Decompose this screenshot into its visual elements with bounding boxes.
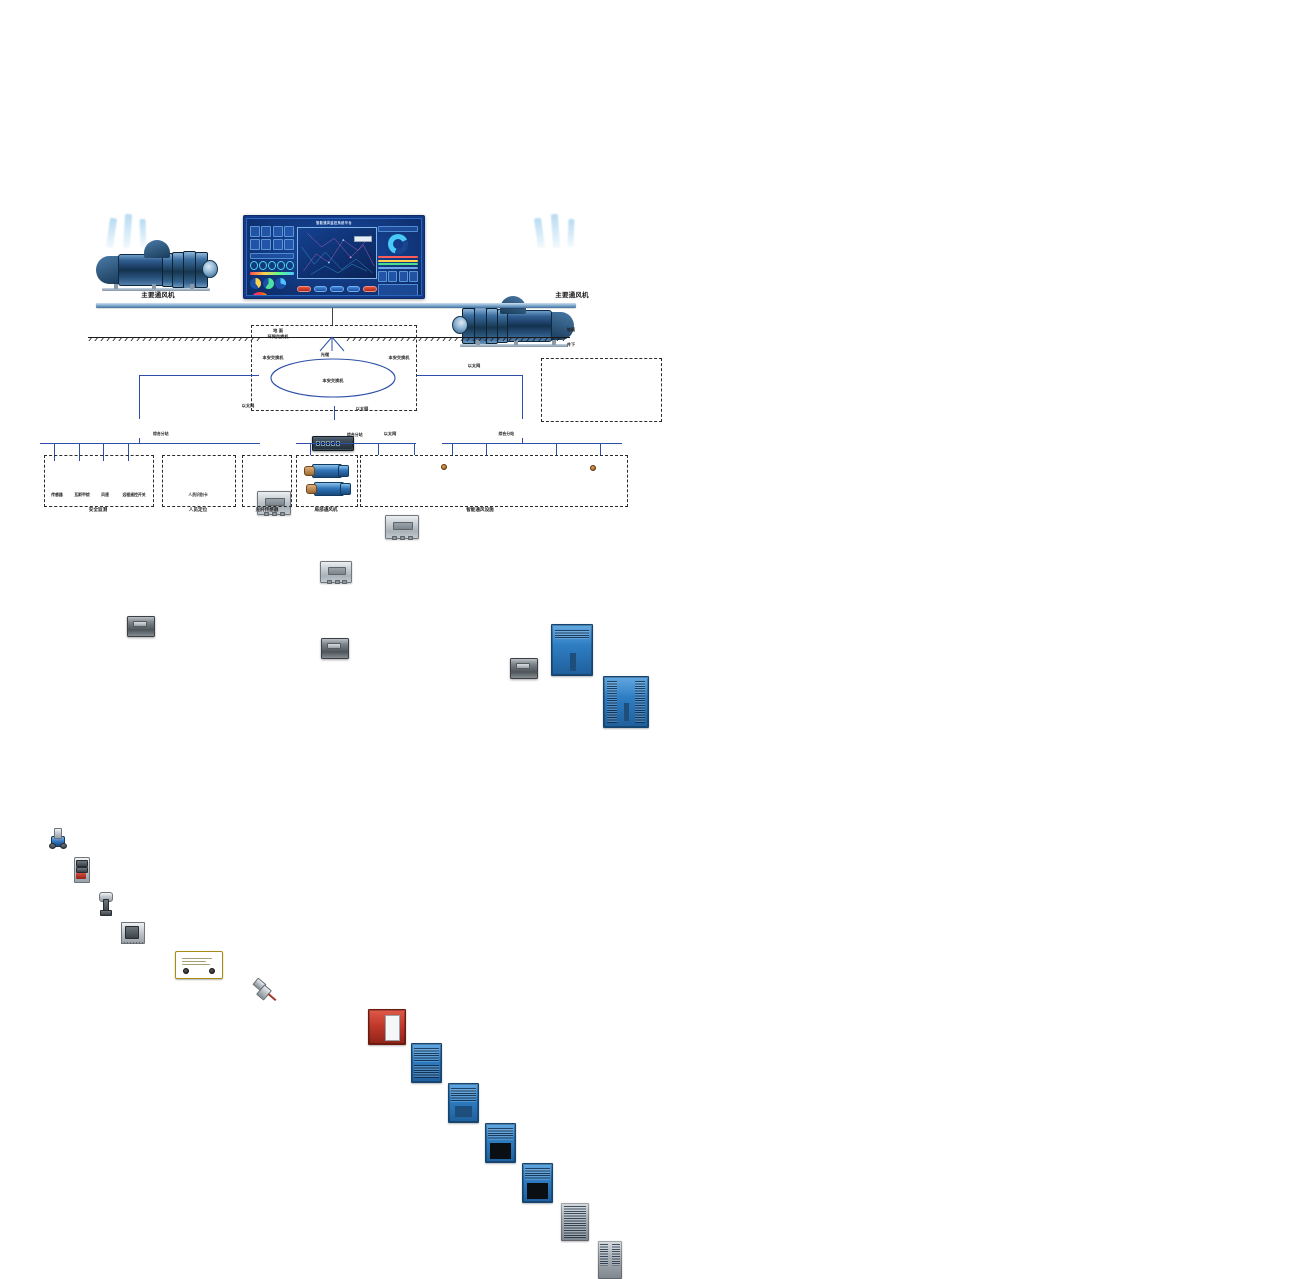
airflow-stream-right-3 <box>568 219 575 247</box>
bus-center-drop-3 <box>414 443 415 455</box>
smart-vent-door-2 <box>448 1083 479 1123</box>
underground-air-door-1 <box>551 624 593 676</box>
surface-platform-bar <box>96 303 576 308</box>
local-fan-motor <box>304 466 315 476</box>
sensor-mount <box>54 828 62 839</box>
is-switch-left-label: 本安交换机 <box>252 356 294 361</box>
substation-right[interactable] <box>510 658 538 679</box>
airflow-stream-right-1 <box>534 218 545 249</box>
substation-left-label: 综合分站 <box>153 432 185 436</box>
door-frame <box>604 677 648 727</box>
device-methane-detector <box>72 854 90 886</box>
cable-center-branch-v <box>334 406 335 420</box>
screen-gauge-chart <box>388 234 408 254</box>
screen-ring-row <box>250 261 294 270</box>
ground-hatch-left <box>88 337 264 341</box>
sensor-probe <box>49 843 56 849</box>
screen-ring-gauge <box>286 261 294 270</box>
safety-monitoring-zone <box>44 455 154 507</box>
door-frame <box>561 1203 589 1241</box>
door-frame <box>552 625 592 675</box>
screen-action-button[interactable] <box>363 286 377 293</box>
main-fan-right-label: 主要通风机 <box>510 292 634 299</box>
screen-kpi-cell <box>273 239 283 250</box>
smart-vent-regulator-2 <box>598 1241 622 1279</box>
personnel-id-card-label: 人员识别卡 <box>170 493 226 497</box>
bus-right-drop-2 <box>486 443 487 455</box>
door-frame <box>486 1124 515 1162</box>
screen-action-button[interactable] <box>314 286 328 293</box>
screen-footer-widget <box>378 284 418 296</box>
door-frame <box>412 1044 441 1082</box>
local-fan-outlet <box>338 465 349 477</box>
bus-left-drop-from-substation <box>139 438 140 444</box>
fiber-optic-sensor <box>250 976 282 1010</box>
smart-ventilation-zone <box>360 455 628 507</box>
screen-legend-line <box>378 263 418 265</box>
bus-left-horizontal <box>40 443 260 444</box>
screen-icon-grid <box>250 226 294 250</box>
screen-color-wheel <box>250 292 270 297</box>
cable-right-branch-v <box>522 375 523 419</box>
anemometer-base <box>100 910 112 916</box>
is-switch-lug <box>327 580 332 585</box>
screen-network-map <box>297 227 377 279</box>
fan-foot-left-3 <box>190 284 194 289</box>
substation-center-label: 综合分站 <box>347 433 379 437</box>
card-button <box>183 968 189 974</box>
screen-legend-line <box>378 256 418 258</box>
personnel-positioning-group-label: 人员定位 <box>168 508 228 513</box>
screen-kpi-cell <box>250 226 260 237</box>
screen-kpi-cell <box>399 271 408 282</box>
device-sensor-label: 传感器 <box>44 493 70 497</box>
screen-ring-gauge <box>268 261 276 270</box>
cable-right-branch-h <box>417 375 523 376</box>
is-switch-right-label: 本安交换机 <box>378 356 420 361</box>
screen-header-widget <box>378 226 418 232</box>
smart-vent-door-1-actuator <box>441 464 447 470</box>
is-switch-lug <box>408 536 413 541</box>
screen-ring-gauge <box>259 261 267 270</box>
door-frame <box>523 1164 552 1202</box>
screen-right-kpi-grid <box>378 271 418 282</box>
local-fan-motor <box>306 484 317 494</box>
substation-window <box>133 621 147 628</box>
is-switch-lug <box>335 580 340 585</box>
screen-left-panel <box>250 226 294 281</box>
bus-center-drop-1 <box>310 443 311 455</box>
screen-kpi-cell <box>261 239 271 250</box>
screen-kpi-cell <box>378 271 387 282</box>
is-switch-window <box>328 567 347 575</box>
screen-button-row[interactable] <box>297 286 377 293</box>
screen-ring-gauge <box>277 261 285 270</box>
main-fan-left <box>96 240 220 296</box>
is-switch-bottom-label: 本安交换机 <box>312 379 354 384</box>
device-methane-label: 瓦斯甲烷 <box>68 493 96 497</box>
screen-strip-widget <box>250 253 294 259</box>
smart-vent-door-4 <box>522 1163 553 1203</box>
bus-center-drop-from-substation <box>334 438 335 444</box>
screen-action-button[interactable] <box>347 286 361 293</box>
is-switch-lug <box>392 536 397 541</box>
smart-vent-red-door <box>368 1009 406 1045</box>
underground-air-door-zone <box>541 358 662 422</box>
fan-hub-right <box>452 316 468 334</box>
sensor-probe <box>60 843 67 849</box>
screen-ring-gauge <box>250 261 258 270</box>
methane-indicator <box>76 873 86 879</box>
cable-screen-to-ground-switch <box>332 308 333 326</box>
ethernet-label-bottom-center: 以太网 <box>378 432 402 437</box>
screen-donut-row <box>250 278 294 289</box>
bus-center-horizontal <box>296 443 416 444</box>
local-fan-lower <box>306 480 350 496</box>
ethernet-label-left: 以太网 <box>236 404 260 409</box>
fan-foot-left-1 <box>114 284 118 289</box>
cable-left-branch-v <box>139 375 140 419</box>
ethernet-label-center: 以太网 <box>350 407 374 412</box>
screen-donut-chart <box>275 278 286 289</box>
screen-legend-line <box>378 260 418 262</box>
screen-action-button[interactable] <box>330 286 344 293</box>
is-switch-bottom[interactable] <box>320 561 352 583</box>
is-switch-lug <box>400 536 405 541</box>
fan-hub-left <box>202 260 218 278</box>
bus-right-drop-1 <box>452 443 453 455</box>
main-fan-left-label: 主要通风机 <box>96 292 220 299</box>
screen-kpi-cell <box>409 271 418 282</box>
card-button <box>209 968 215 974</box>
substation-window <box>516 663 530 670</box>
underground-level-label: 井下 <box>556 343 586 348</box>
bus-right-drop-from-substation <box>522 438 523 444</box>
screen-action-button[interactable] <box>297 286 311 293</box>
door-frame <box>369 1010 405 1044</box>
ethernet-label-right-top: 以太网 <box>462 364 486 369</box>
screen-kpi-cell <box>388 271 397 282</box>
ground-ring-switch-label-line2: 环网交换机 <box>258 335 298 340</box>
device-remote-control-switch <box>120 918 144 948</box>
local-fan-outlet <box>340 483 351 495</box>
ground-level-label: 地面 <box>556 328 586 333</box>
control-screen-display: 智能通风监控系统平台 <box>246 218 422 296</box>
screen-kpi-cell <box>284 226 294 237</box>
screen-kpi-cell <box>284 239 294 250</box>
cable-left-branch-h <box>139 375 259 376</box>
screen-spectrum-bar <box>250 272 294 275</box>
substation-center[interactable] <box>321 638 349 659</box>
fiber-sensor-zone <box>242 455 292 507</box>
screen-kpi-cell <box>273 226 283 237</box>
smart-ventilation-group-label: 智能通风设施 <box>420 508 540 513</box>
substation-left[interactable] <box>127 616 155 637</box>
substation-window <box>327 643 341 650</box>
probe-tip <box>268 993 277 1001</box>
card-text-line <box>182 964 210 965</box>
is-switch-lug <box>342 580 347 585</box>
fiber-sensor-group-label: 光纤传感器 <box>240 508 294 513</box>
screen-donut-chart <box>263 278 274 289</box>
card-text-line <box>182 961 206 962</box>
local-fan-group-label: 局部通风机 <box>296 508 356 513</box>
screen-legend-line <box>378 267 418 269</box>
is-switch-right[interactable] <box>385 515 419 539</box>
rcs-pins <box>121 942 143 944</box>
bus-right-horizontal <box>442 443 622 444</box>
smart-vent-regulator-1-actuator <box>590 465 596 471</box>
personnel-id-card <box>175 951 223 979</box>
smart-vent-door-3 <box>485 1123 516 1163</box>
screen-right-panel <box>378 226 418 281</box>
screen-donut-chart <box>250 278 261 289</box>
screen-kpi-cell <box>261 226 271 237</box>
bus-center-drop-2 <box>378 443 379 455</box>
airflow-stream-right-2 <box>551 214 560 248</box>
bus-right-drop-3 <box>556 443 557 455</box>
underground-air-door-2 <box>603 676 649 728</box>
fan-elbow-left <box>144 240 170 258</box>
card-text-line <box>182 958 212 959</box>
door-frame <box>598 1241 622 1279</box>
substation-right-label: 综合分站 <box>482 432 514 436</box>
personnel-positioning-zone <box>162 455 236 507</box>
smart-vent-regulator-1 <box>561 1203 589 1241</box>
bus-right-drop-4 <box>600 443 601 455</box>
fan-foot-left-2 <box>152 284 156 289</box>
smart-vent-door-1 <box>411 1043 442 1083</box>
is-switch-window <box>393 522 413 530</box>
control-screen[interactable]: 智能通风监控系统平台 <box>243 215 425 299</box>
local-fan-upper <box>304 462 348 478</box>
fan-barrel-left <box>118 254 166 286</box>
screen-kpi-cell <box>250 239 260 250</box>
door-frame <box>449 1084 478 1122</box>
device-anemometer <box>97 888 113 918</box>
device-remote-control-label: 远程遥控开关 <box>114 493 154 497</box>
device-sensor <box>48 826 66 856</box>
methane-display <box>76 860 88 867</box>
safety-monitoring-group-label: 安全监测 <box>48 508 148 513</box>
rcs-chip <box>125 926 139 939</box>
screen-map-tooltip <box>354 236 372 242</box>
control-screen-title: 智能通风监控系统平台 <box>247 220 421 225</box>
diagram-canvas: 主要通风机 主要通风机 智能通风监控系统平台 <box>0 0 1300 700</box>
